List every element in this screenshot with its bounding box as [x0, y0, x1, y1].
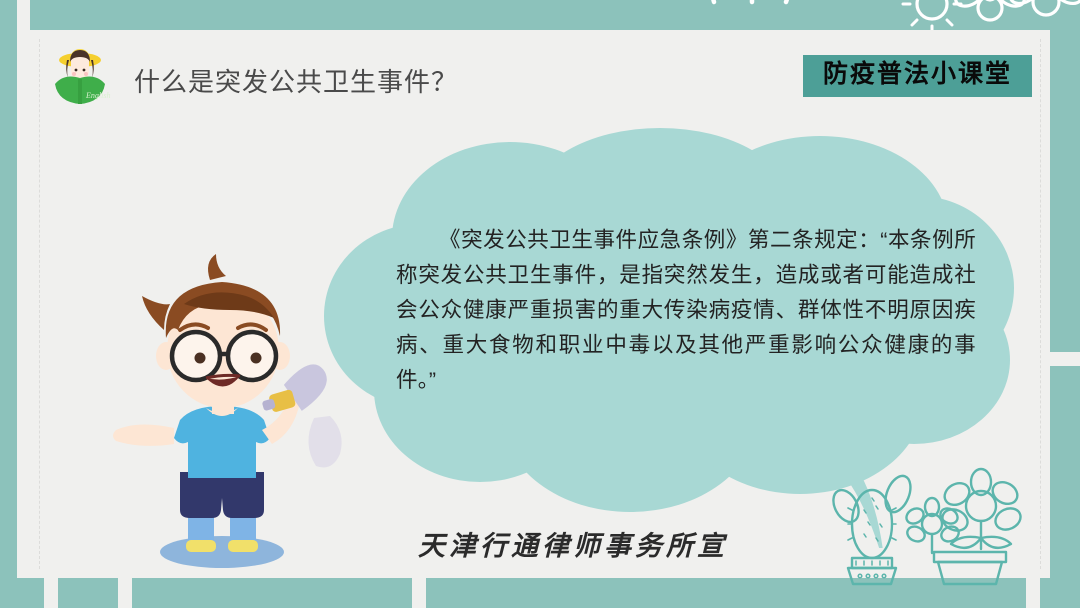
signature-text: 天津行通律师事务所宣 — [418, 524, 728, 563]
frame-bar-right-upper — [1050, 0, 1080, 352]
frame-bar-bottom-1 — [0, 578, 44, 608]
slide-canvas: English 什么是突发公共卫生事件？ 防疫普法小课堂 — [0, 0, 1080, 608]
frame-bar-bottom-3 — [132, 578, 412, 608]
cactus-plant-icon — [828, 472, 915, 584]
logo-script-label: English — [85, 91, 110, 100]
girl-reading-book-icon: English — [48, 46, 112, 108]
flower-doodle-icon — [700, 0, 1080, 30]
bubble-body-text: 《突发公共卫生事件应急条例》第二条规定：“本条例所称突发公共卫生事件，是指突然发… — [396, 223, 976, 398]
potted-plants-decor — [826, 466, 1046, 586]
flower-plant-icon — [904, 469, 1024, 584]
status-badge: 防疫普法小课堂 — [803, 55, 1032, 97]
frame-bar-right-lower — [1050, 366, 1080, 608]
boy-with-megaphone-icon — [110, 252, 354, 574]
frame-bar-left — [0, 0, 17, 608]
page-title: 什么是突发公共卫生事件？ — [134, 62, 458, 99]
frame-bar-bottom-2 — [58, 578, 118, 608]
